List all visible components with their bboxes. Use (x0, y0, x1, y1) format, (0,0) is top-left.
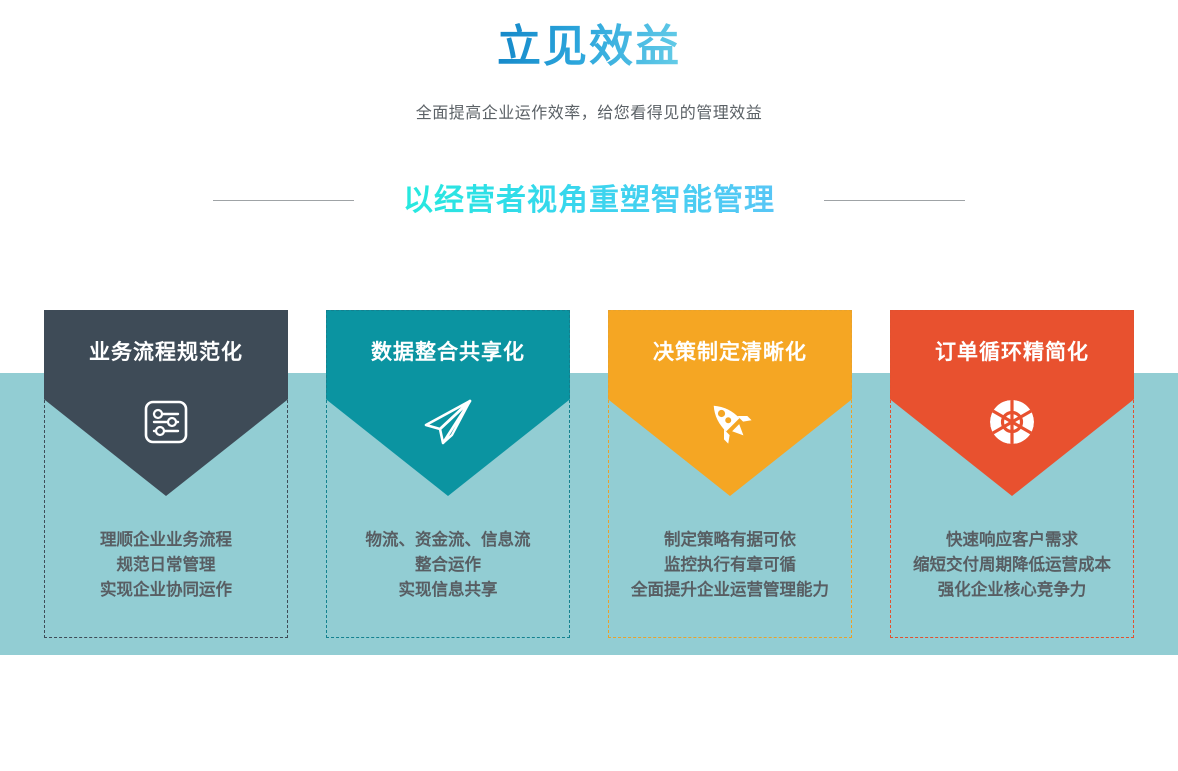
card-body-line: 全面提升企业运营管理能力 (612, 578, 848, 603)
feature-card-list: 业务流程规范化 理顺企业业务流程 规范日常管理 实现企业协同运作 数据整合共享化 (0, 310, 1178, 640)
card-title: 业务流程规范化 (44, 336, 288, 366)
card-body-line: 快速响应客户需求 (894, 528, 1130, 553)
card-body-line: 监控执行有章可循 (612, 553, 848, 578)
card-title: 数据整合共享化 (326, 336, 570, 366)
page-subtitle: 全面提高企业运作效率，给您看得见的管理效益 (0, 99, 1178, 123)
card-body-line: 规范日常管理 (48, 553, 284, 578)
card-body-line: 缩短交付周期降低运营成本 (894, 553, 1130, 578)
paper-plane-icon (422, 396, 474, 448)
rocket-icon (704, 396, 756, 448)
card-body-line: 实现企业协同运作 (48, 578, 284, 603)
card-title: 订单循环精简化 (890, 336, 1134, 366)
feature-card-order-cycle[interactable]: 订单循环精简化 (890, 310, 1134, 638)
card-body-line: 实现信息共享 (330, 578, 566, 603)
card-body: 物流、资金流、信息流 整合运作 实现信息共享 (330, 528, 566, 603)
card-body: 制定策略有据可依 监控执行有章可循 全面提升企业运营管理能力 (612, 528, 848, 603)
section-heading-row: 以经营者视角重塑智能管理 (0, 183, 1178, 219)
card-body-line: 强化企业核心竞争力 (894, 578, 1130, 603)
feature-card-data-integration[interactable]: 数据整合共享化 物流、资金流、信息流 整合运作 实现信息共享 (326, 310, 570, 638)
card-body-line: 整合运作 (330, 553, 566, 578)
card-body-line: 物流、资金流、信息流 (330, 528, 566, 553)
sliders-icon (140, 396, 192, 448)
aperture-icon (986, 396, 1038, 448)
page-title: 立见效益 (497, 22, 681, 73)
divider-line-right (824, 200, 965, 201)
section-heading: 以经营者视角重塑智能管理 (403, 183, 775, 219)
page-header: 立见效益 全面提高企业运作效率，给您看得见的管理效益 以经营者视角重塑智能管理 (0, 0, 1178, 219)
card-body-line: 理顺企业业务流程 (48, 528, 284, 553)
card-body-line: 制定策略有据可依 (612, 528, 848, 553)
card-body: 快速响应客户需求 缩短交付周期降低运营成本 强化企业核心竞争力 (894, 528, 1130, 603)
card-body: 理顺企业业务流程 规范日常管理 实现企业协同运作 (48, 528, 284, 603)
divider-line-left (213, 200, 354, 201)
card-title: 决策制定清晰化 (608, 336, 852, 366)
feature-card-decision-making[interactable]: 决策制定清晰化 制定策略有据可依 监控执行有章可循 全面提升企业运营管理能力 (608, 310, 852, 638)
feature-card-business-process[interactable]: 业务流程规范化 理顺企业业务流程 规范日常管理 实现企业协同运作 (44, 310, 288, 638)
